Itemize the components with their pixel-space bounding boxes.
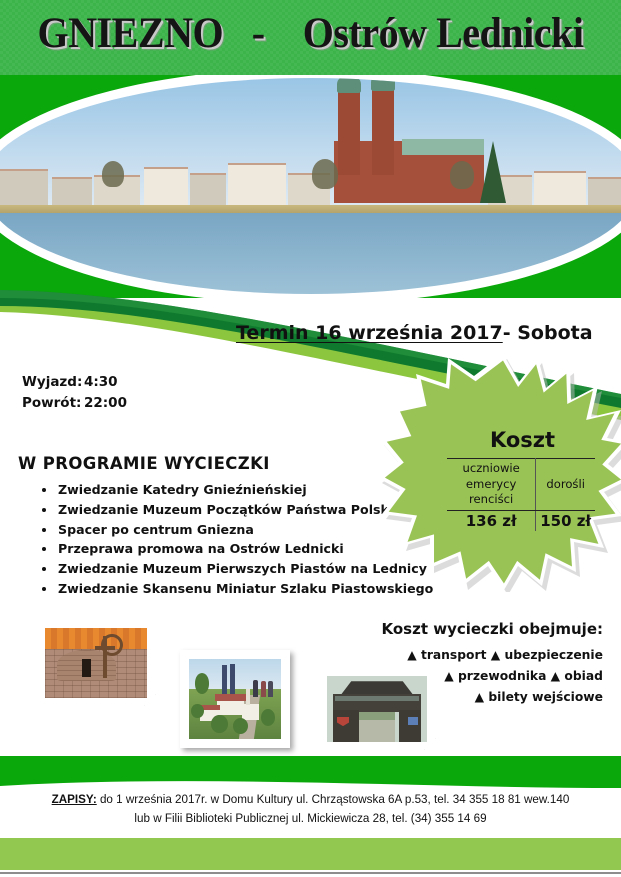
program-heading: W PROGRAMIE WYCIECZKI	[18, 454, 270, 473]
schedule-block: Wyjazd:4:30 Powrót:22:00	[22, 372, 127, 414]
cost-heading: Koszt	[455, 428, 590, 452]
triangle-bullet-icon: ▲	[491, 648, 500, 662]
bottom-edge-line	[0, 872, 621, 874]
title-right: Ostrów Lednicki	[303, 10, 584, 57]
return-label: Powrót:	[22, 393, 84, 414]
date-underlined: Termin 16 września 2017	[236, 322, 503, 344]
triangle-bullet-icon: ▲	[407, 648, 416, 662]
registration-info: ZAPISY: do 1 września 2017r. w Domu Kult…	[0, 790, 621, 828]
cost-col1-line1: uczniowie	[462, 461, 519, 475]
includes-item: obiad	[564, 669, 603, 683]
gniezno-cathedral-photo	[0, 75, 621, 298]
page-title: GNIEZNO - Ostrów Lednicki	[22, 9, 600, 58]
table-row: uczniowie emerycy renciści dorośli	[447, 459, 595, 511]
includes-heading: Koszt wycieczki obejmuje:	[343, 620, 603, 638]
cost-table: uczniowie emerycy renciści dorośli 136 z…	[447, 458, 595, 531]
list-item: Spacer po centrum Gniezna	[58, 520, 418, 540]
cost-col2-header: dorośli	[536, 459, 595, 511]
title-left: GNIEZNO	[38, 10, 224, 57]
registration-label: ZAPISY:	[52, 792, 97, 806]
cost-col1-line3: renciści	[469, 492, 513, 506]
table-row: 136 zł 150 zł	[447, 510, 595, 531]
cost-col1-line2: emerycy	[466, 477, 516, 491]
wooden-gate-photo	[318, 668, 436, 750]
ostrow-lednicki-ruins-photo	[36, 620, 156, 706]
list-item: Zwiedzanie Muzeum Początków Państwa Pols…	[58, 500, 418, 520]
cost-price-adults: 150 zł	[536, 510, 595, 531]
date-suffix: - Sobota	[503, 322, 593, 344]
includes-item: ubezpieczenie	[504, 648, 603, 662]
cost-price-students: 136 zł	[447, 510, 536, 531]
hero-photo-panel	[0, 75, 621, 298]
list-item: Przeprawa promowa na Ostrów Lednicki	[58, 539, 418, 559]
triangle-bullet-icon: ▲	[475, 690, 484, 704]
registration-line-1-text: do 1 września 2017r. w Domu Kultury ul. …	[97, 792, 570, 806]
list-item: Zwiedzanie Skansenu Miniatur Szlaku Pias…	[58, 579, 418, 599]
departure-value: 4:30	[84, 374, 118, 390]
list-item: Zwiedzanie Muzeum Pierwszych Piastów na …	[58, 559, 418, 579]
program-list: Zwiedzanie Katedry Gnieźnieńskiej Zwiedz…	[36, 480, 418, 599]
poster: GNIEZNO - Ostrów Lednicki	[0, 0, 621, 877]
cost-col1-header: uczniowie emerycy renciści	[447, 459, 536, 511]
departure-label: Wyjazd:	[22, 372, 84, 393]
registration-line-2: lub w Filii Biblioteki Publicznej ul. Mi…	[19, 809, 603, 828]
list-item: Zwiedzanie Katedry Gnieźnieńskiej	[58, 480, 418, 500]
schedule-row-departure: Wyjazd:4:30	[22, 372, 127, 393]
title-dash: -	[252, 10, 265, 57]
includes-row-1: ▲ transport ▲ ubezpieczenie	[343, 645, 603, 666]
includes-item: transport	[421, 648, 487, 662]
miniature-park-photo	[180, 650, 290, 748]
date-line: Termin 16 września 2017- Sobota	[236, 322, 621, 344]
triangle-bullet-icon: ▲	[551, 669, 560, 683]
bottom-green-band	[0, 838, 621, 870]
return-value: 22:00	[84, 395, 127, 411]
registration-line-1: ZAPISY: do 1 września 2017r. w Domu Kult…	[19, 790, 603, 809]
includes-item: bilety wejściowe	[488, 690, 603, 704]
includes-item: przewodnika	[458, 669, 546, 683]
triangle-bullet-icon: ▲	[444, 669, 453, 683]
schedule-row-return: Powrót:22:00	[22, 393, 127, 414]
